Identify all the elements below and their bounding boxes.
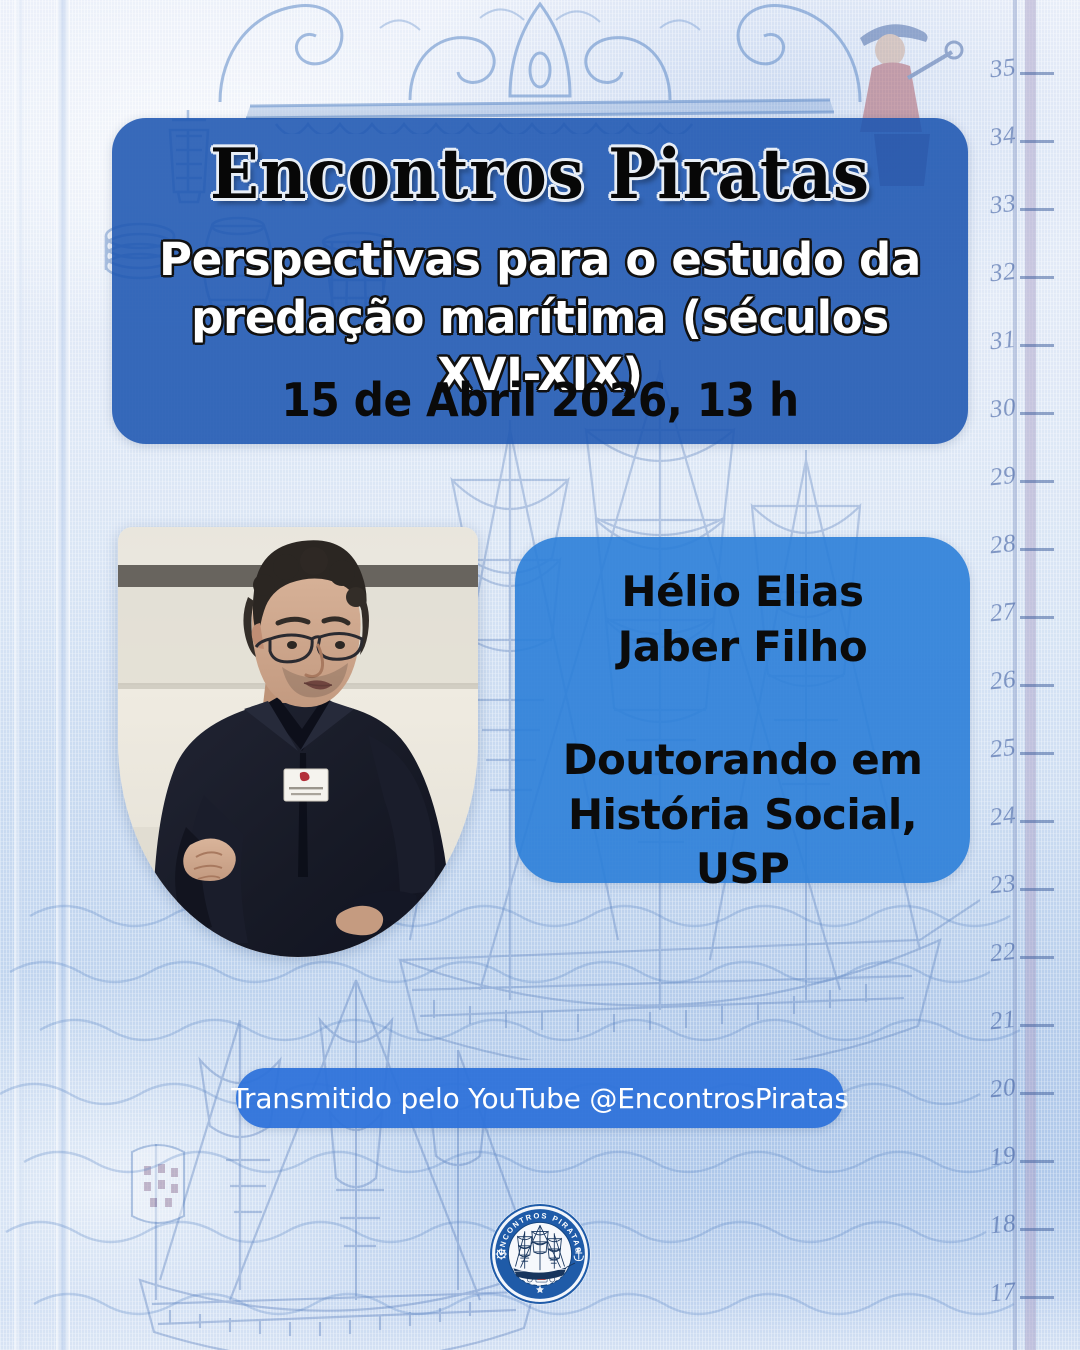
speaker-name-line-1: Hélio Elias: [621, 567, 863, 616]
stream-banner[interactable]: Transmitido pelo YouTube @EncontrosPirat…: [236, 1068, 844, 1128]
speaker-role-line-1: Doutorando em: [563, 735, 923, 784]
poster-canvas: 35343332313029282726252423222120191817 E…: [0, 0, 1080, 1350]
header-card: Encontros Piratas Perspectivas para o es…: [112, 118, 968, 444]
speaker-affiliation: Doutorando em História Social, USP: [525, 733, 960, 897]
encontros-piratas-seal-icon: ENCONTROS PIRATAS DESDE 2023: [489, 1203, 591, 1305]
speaker-card: Hélio Elias Jaber Filho Doutorando em Hi…: [515, 537, 970, 883]
helm-wheel-icon: [496, 1248, 507, 1259]
speaker-name: Hélio Elias Jaber Filho: [531, 565, 954, 674]
speaker-portrait-illustration: [118, 527, 478, 957]
speaker-name-line-2: Jaber Filho: [618, 622, 868, 671]
subtitle-line-1: Perspectivas para o estudo da: [159, 233, 921, 286]
event-date: 15 de Abril 2026, 13 h: [146, 377, 934, 423]
brand-logo: ENCONTROS PIRATAS DESDE 2023: [489, 1203, 591, 1305]
page-title: Encontros Piratas: [142, 140, 938, 209]
stream-label: Transmitido pelo YouTube @EncontrosPirat…: [231, 1082, 849, 1115]
speaker-role-line-2: História Social, USP: [568, 790, 917, 894]
speaker-photo: [118, 527, 478, 957]
